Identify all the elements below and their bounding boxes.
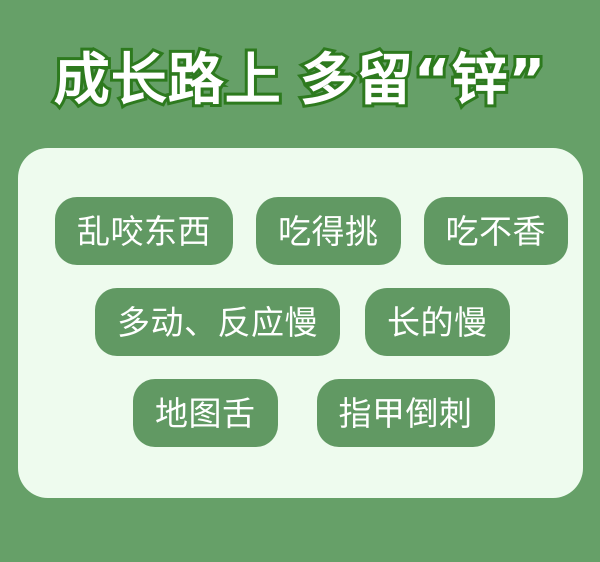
pill-rows: 乱咬东西 吃得挑 吃不香 多动、反应慢 长的慢 地图舌 指甲倒刺 — [18, 148, 583, 498]
symptom-pill[interactable]: 指甲倒刺 — [317, 379, 495, 447]
symptom-pill[interactable]: 吃得挑 — [256, 197, 401, 265]
symptoms-card: 乱咬东西 吃得挑 吃不香 多动、反应慢 长的慢 地图舌 指甲倒刺 — [18, 148, 583, 498]
pill-row-3: 地图舌 指甲倒刺 — [18, 379, 583, 447]
poster-root: 成长路上多留“锌” 乱咬东西 吃得挑 吃不香 多动、反应慢 长的慢 地图舌 指甲… — [0, 0, 600, 562]
headline-text: 成长路上多留“锌” — [54, 53, 547, 109]
symptom-pill[interactable]: 吃不香 — [424, 197, 569, 265]
pill-row-2: 多动、反应慢 长的慢 — [18, 288, 583, 356]
headline-part-2: 多留“锌” — [300, 48, 547, 113]
headline-part-1: 成长路上 — [54, 48, 282, 113]
symptom-pill[interactable]: 长的慢 — [365, 288, 510, 356]
symptom-pill[interactable]: 地图舌 — [133, 379, 278, 447]
pill-row-1: 乱咬东西 吃得挑 吃不香 — [18, 197, 583, 265]
symptom-pill[interactable]: 乱咬东西 — [55, 197, 233, 265]
symptom-pill[interactable]: 多动、反应慢 — [95, 288, 340, 356]
poster-title: 成长路上多留“锌” — [0, 38, 600, 124]
